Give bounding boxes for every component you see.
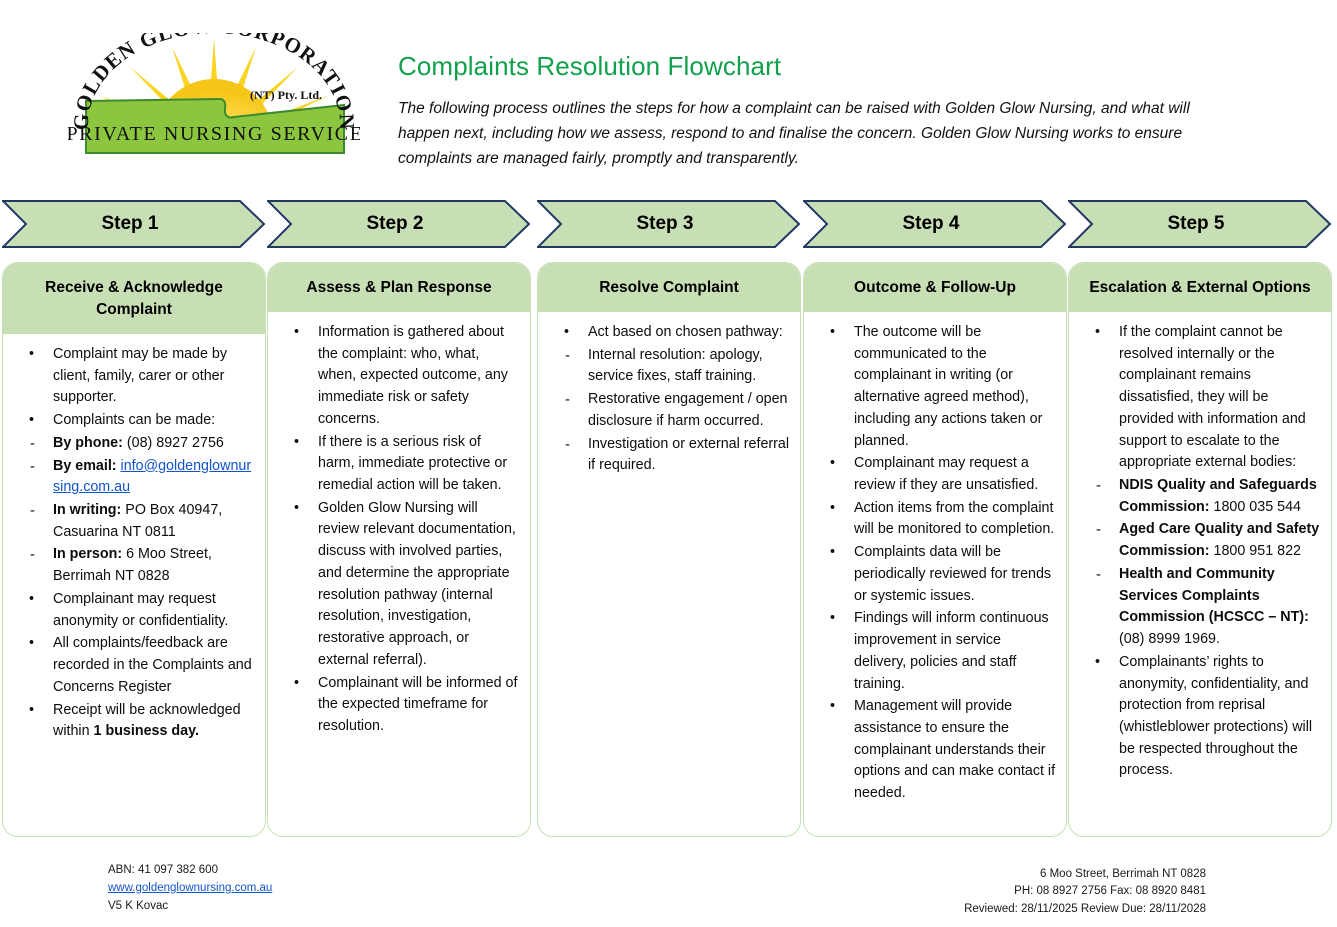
list-item: •Act based on chosen pathway: xyxy=(542,322,790,344)
list-item: •Complaints can be made: xyxy=(7,410,255,432)
bullet-marker-icon: • xyxy=(830,696,835,718)
item-text: Investigation or external referral if re… xyxy=(588,436,789,474)
item-text: Action items from the complaint will be … xyxy=(854,500,1054,538)
bullet-marker-icon: • xyxy=(29,589,34,611)
list-item: -Aged Care Quality and Safety Commission… xyxy=(1073,519,1321,562)
list-item: •Complainants’ rights to anonymity, conf… xyxy=(1073,652,1321,782)
list-item: -In writing: PO Box 40947, Casuarina NT … xyxy=(7,500,255,543)
list-item: •Management will provide assistance to e… xyxy=(808,696,1056,805)
bullet-marker-icon: • xyxy=(294,673,299,695)
step-card-title-2: Assess & Plan Response xyxy=(268,263,530,312)
list-item: •Receipt will be acknowledged within 1 b… xyxy=(7,700,255,743)
item-text: (08) 8999 1969. xyxy=(1119,631,1220,647)
footer-contact: PH: 08 8927 2756 Fax: 08 8920 8481 xyxy=(964,883,1206,900)
step-chevron-label-4: Step 4 xyxy=(803,200,1067,248)
list-item: -NDIS Quality and Safeguards Commission:… xyxy=(1073,475,1321,518)
item-text: The outcome will be communicated to the … xyxy=(854,324,1042,449)
list-item: •Complaints data will be periodically re… xyxy=(808,542,1056,607)
item-text: If the complaint cannot be resolved inte… xyxy=(1119,324,1306,470)
emphasis-text: In writing: xyxy=(53,502,125,518)
item-text: Golden Glow Nursing will review relevant… xyxy=(318,500,516,668)
list-item: •Complainant may request anonymity or co… xyxy=(7,589,255,632)
dash-marker-icon: - xyxy=(30,456,35,479)
step-chevron-label-5: Step 5 xyxy=(1068,200,1332,248)
bullet-marker-icon: • xyxy=(29,633,34,655)
item-text: Complaint may be made by client, family,… xyxy=(53,346,227,405)
emphasis-text: Health and Community Services Complaints… xyxy=(1119,566,1309,625)
list-item: •Complainant will be informed of the exp… xyxy=(272,673,520,738)
list-item: -Restorative engagement / open disclosur… xyxy=(542,389,790,432)
list-item: •If the complaint cannot be resolved int… xyxy=(1073,322,1321,474)
step-item-list-2: •Information is gathered about the compl… xyxy=(272,322,520,738)
list-item: •Golden Glow Nursing will review relevan… xyxy=(272,498,520,672)
step-card-body-2: •Information is gathered about the compl… xyxy=(268,312,530,753)
step-chevron-4[interactable]: Step 4 xyxy=(803,200,1067,248)
step-card-title-1: Receive & Acknowledge Complaint xyxy=(3,263,265,334)
step-card-4: Outcome & Follow-Up•The outcome will be … xyxy=(803,262,1067,837)
list-item: •The outcome will be communicated to the… xyxy=(808,322,1056,452)
svg-text:(NT) Pty. Ltd.: (NT) Pty. Ltd. xyxy=(250,88,322,102)
intro-paragraph: The following process outlines the steps… xyxy=(398,96,1228,172)
bullet-marker-icon: • xyxy=(294,432,299,454)
item-text: Complaints can be made: xyxy=(53,412,215,428)
item-text: Restorative engagement / open disclosure… xyxy=(588,391,788,429)
item-text: All complaints/feedback are recorded in … xyxy=(53,635,252,694)
bullet-marker-icon: • xyxy=(830,498,835,520)
page-title: Complaints Resolution Flowchart xyxy=(398,52,1228,82)
list-item: -By phone: (08) 8927 2756 xyxy=(7,433,255,455)
footer-address: 6 Moo Street, Berrimah NT 0828 xyxy=(964,866,1206,883)
dash-marker-icon: - xyxy=(565,389,570,412)
dash-marker-icon: - xyxy=(30,544,35,567)
bullet-marker-icon: • xyxy=(29,410,34,432)
item-text: Complainant will be informed of the expe… xyxy=(318,675,517,734)
step-card-body-3: •Act based on chosen pathway:-Internal r… xyxy=(538,312,800,492)
list-item: -In person: 6 Moo Street, Berrimah NT 08… xyxy=(7,544,255,587)
item-text: Complainants’ rights to anonymity, confi… xyxy=(1119,654,1312,779)
step-card-body-1: •Complaint may be made by client, family… xyxy=(3,334,265,758)
list-item: •If there is a serious risk of harm, imm… xyxy=(272,432,520,497)
bullet-marker-icon: • xyxy=(294,322,299,344)
bullet-marker-icon: • xyxy=(564,322,569,344)
dash-marker-icon: - xyxy=(30,433,35,456)
item-text: Internal resolution: apology, service fi… xyxy=(588,347,763,385)
step-card-3: Resolve Complaint•Act based on chosen pa… xyxy=(537,262,801,837)
emphasis-text: In person: xyxy=(53,546,126,562)
item-text: Complainant may request a review if they… xyxy=(854,455,1038,493)
item-text: Management will provide assistance to en… xyxy=(854,698,1055,801)
step-item-list-4: •The outcome will be communicated to the… xyxy=(808,322,1056,805)
list-item: -Investigation or external referral if r… xyxy=(542,434,790,477)
bullet-marker-icon: • xyxy=(830,608,835,630)
emphasis-text: By email: xyxy=(53,458,121,474)
svg-text:PRIVATE NURSING SERVICE: PRIVATE NURSING SERVICE xyxy=(68,123,360,145)
item-text: Findings will inform continuous improvem… xyxy=(854,610,1049,691)
step-chevron-label-3: Step 3 xyxy=(537,200,801,248)
dash-marker-icon: - xyxy=(1096,475,1101,498)
list-item: •All complaints/feedback are recorded in… xyxy=(7,633,255,698)
step-chevron-5[interactable]: Step 5 xyxy=(1068,200,1332,248)
item-text: Act based on chosen pathway: xyxy=(588,324,783,340)
footer-right: 6 Moo Street, Berrimah NT 0828 PH: 08 89… xyxy=(964,866,1206,918)
list-item: •Findings will inform continuous improve… xyxy=(808,608,1056,695)
dash-marker-icon: - xyxy=(1096,564,1101,587)
dash-marker-icon: - xyxy=(565,434,570,457)
footer-review-dates: Reviewed: 28/11/2025 Review Due: 28/11/2… xyxy=(964,901,1206,918)
bullet-marker-icon: • xyxy=(830,322,835,344)
bullet-marker-icon: • xyxy=(830,453,835,475)
footer-version: V5 K Kovac xyxy=(108,898,272,916)
bullet-marker-icon: • xyxy=(29,700,34,722)
title-block: Complaints Resolution Flowchart The foll… xyxy=(398,52,1228,172)
dash-marker-icon: - xyxy=(30,500,35,523)
item-text: Complainant may request anonymity or con… xyxy=(53,591,228,629)
item-text: 1800 951 822 xyxy=(1214,543,1301,559)
list-item: -Internal resolution: apology, service f… xyxy=(542,345,790,388)
step-item-list-3: •Act based on chosen pathway:-Internal r… xyxy=(542,322,790,477)
list-item: •Complaint may be made by client, family… xyxy=(7,344,255,409)
emphasis-text: 1 business day. xyxy=(94,723,199,739)
step-card-2: Assess & Plan Response•Information is ga… xyxy=(267,262,531,837)
dash-marker-icon: - xyxy=(565,345,570,368)
item-text: (08) 8927 2756 xyxy=(127,435,224,451)
bullet-marker-icon: • xyxy=(830,542,835,564)
list-item: •Complainant may request a review if the… xyxy=(808,453,1056,496)
step-card-title-4: Outcome & Follow-Up xyxy=(804,263,1066,312)
step-chevron-3[interactable]: Step 3 xyxy=(537,200,801,248)
footer-left: ABN: 41 097 382 600 www.goldenglownursin… xyxy=(108,862,272,915)
company-logo: GOLDEN GLOW CORPORATION (NT) Pty. Ltd. P… xyxy=(68,33,360,173)
list-item: -Health and Community Services Complaint… xyxy=(1073,564,1321,651)
page-header: GOLDEN GLOW CORPORATION (NT) Pty. Ltd. P… xyxy=(0,0,1337,196)
step-chevron-row: Step 1Step 2Step 3Step 4Step 5 xyxy=(0,200,1337,250)
footer-abn: ABN: 41 097 382 600 xyxy=(108,862,272,880)
footer-website-link[interactable]: www.goldenglownursing.com.au xyxy=(108,882,272,894)
bullet-marker-icon: • xyxy=(1095,322,1100,344)
list-item: •Information is gathered about the compl… xyxy=(272,322,520,431)
item-text: If there is a serious risk of harm, imme… xyxy=(318,434,507,493)
step-chevron-label-1: Step 1 xyxy=(2,200,266,248)
step-chevron-1[interactable]: Step 1 xyxy=(2,200,266,248)
step-card-body-5: •If the complaint cannot be resolved int… xyxy=(1069,312,1331,797)
bullet-marker-icon: • xyxy=(1095,652,1100,674)
sunrise-logo-icon: GOLDEN GLOW CORPORATION (NT) Pty. Ltd. P… xyxy=(68,33,360,173)
step-card-5: Escalation & External Options•If the com… xyxy=(1068,262,1332,837)
bullet-marker-icon: • xyxy=(294,498,299,520)
emphasis-text: By phone: xyxy=(53,435,127,451)
step-card-title-3: Resolve Complaint xyxy=(538,263,800,312)
step-item-list-1: •Complaint may be made by client, family… xyxy=(7,344,255,743)
item-text: Information is gathered about the compla… xyxy=(318,324,508,427)
step-card-title-5: Escalation & External Options xyxy=(1069,263,1331,312)
step-chevron-2[interactable]: Step 2 xyxy=(267,200,531,248)
bullet-marker-icon: • xyxy=(29,344,34,366)
item-text: 1800 035 544 xyxy=(1214,499,1301,515)
item-text: Complaints data will be periodically rev… xyxy=(854,544,1051,603)
list-item: •Action items from the complaint will be… xyxy=(808,498,1056,541)
list-item: -By email: info@goldenglownursing.com.au xyxy=(7,456,255,499)
step-item-list-5: •If the complaint cannot be resolved int… xyxy=(1073,322,1321,782)
dash-marker-icon: - xyxy=(1096,519,1101,542)
step-card-1: Receive & Acknowledge Complaint•Complain… xyxy=(2,262,266,837)
step-chevron-label-2: Step 2 xyxy=(267,200,531,248)
step-card-body-4: •The outcome will be communicated to the… xyxy=(804,312,1066,820)
